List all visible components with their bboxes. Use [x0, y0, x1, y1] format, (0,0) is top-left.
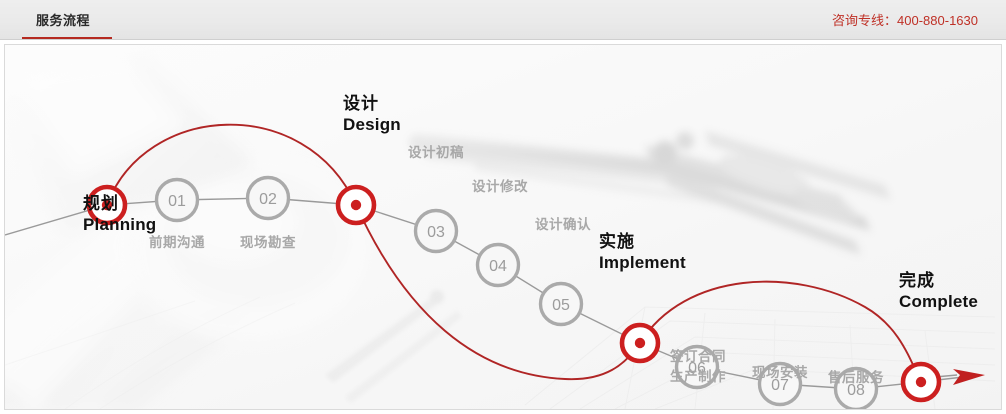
milestone-node-implement[interactable]: [622, 325, 658, 361]
milestone-label-implement: 实施 Implement: [599, 231, 686, 274]
svg-text:03: 03: [427, 224, 445, 241]
step-node-02[interactable]: 02: [248, 178, 289, 219]
service-process-page: 服务流程 咨询专线：400-880-1630: [0, 0, 1006, 414]
step-node-04[interactable]: 04: [478, 245, 519, 286]
milestone-cn-implement: 实施: [599, 231, 686, 252]
step-label-06: 签订合同 生产制作: [659, 347, 737, 386]
step-label-07: 现场安装: [749, 365, 811, 382]
milestone-cn-planning: 规划: [83, 193, 156, 214]
page-header: 服务流程 咨询专线：400-880-1630: [0, 0, 1006, 40]
step-label-01: 前期沟通: [147, 235, 207, 252]
flow-arrowhead: [935, 369, 985, 385]
svg-text:05: 05: [552, 297, 570, 314]
step-node-03[interactable]: 03: [416, 211, 457, 252]
svg-text:01: 01: [168, 193, 186, 210]
hotline-text: 咨询专线：400-880-1630: [832, 0, 978, 39]
step-label-08: 售后服务: [825, 370, 887, 387]
milestone-label-planning: 规划 Planning: [83, 193, 156, 236]
milestone-label-complete: 完成 Complete: [899, 270, 978, 313]
diagram-panel: 01 02 03 04 05: [4, 44, 1002, 410]
milestone-cn-design: 设计: [343, 93, 401, 114]
milestone-nodes: [89, 187, 939, 400]
milestone-en-complete: Complete: [899, 291, 978, 312]
step-label-02: 现场勘查: [238, 235, 298, 252]
step-label-05: 设计确认: [532, 217, 594, 234]
header-inner: 服务流程 咨询专线：400-880-1630: [0, 0, 1006, 40]
svg-text:04: 04: [489, 258, 507, 275]
tab-active-underline: [22, 37, 112, 39]
milestone-label-design: 设计 Design: [343, 93, 401, 136]
svg-text:02: 02: [259, 191, 277, 208]
milestone-cn-complete: 完成: [899, 270, 978, 291]
milestone-node-design[interactable]: [338, 187, 374, 223]
tab-label: 服务流程: [36, 10, 90, 29]
step-label-03: 设计初稿: [405, 145, 467, 162]
step-node-01[interactable]: 01: [157, 180, 198, 221]
milestone-node-complete[interactable]: [903, 364, 939, 400]
step-label-04: 设计修改: [469, 179, 531, 196]
milestone-en-planning: Planning: [83, 214, 156, 235]
step-node-05[interactable]: 05: [541, 284, 582, 325]
tab-service-process[interactable]: 服务流程: [22, 0, 104, 39]
milestone-en-design: Design: [343, 114, 401, 135]
milestone-en-implement: Implement: [599, 252, 686, 273]
